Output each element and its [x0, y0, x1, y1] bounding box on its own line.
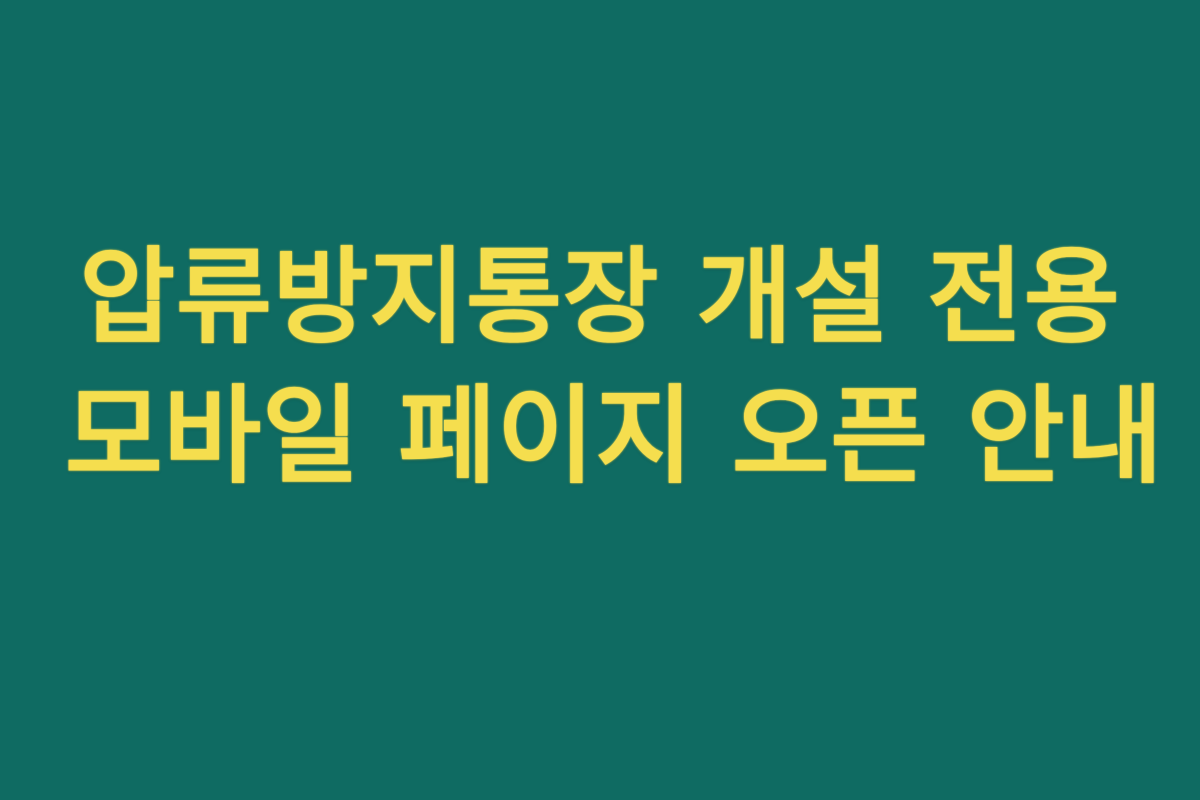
announcement-banner: 압류방지통장 개설 전용 모바일 페이지 오픈 안내: [0, 0, 1200, 800]
headline-line-1: 압류방지통장 개설 전용: [65, 227, 1135, 367]
headline-line-2: 모바일 페이지 오픈 안내: [65, 367, 1135, 507]
headline-block: 압류방지통장 개설 전용 모바일 페이지 오픈 안내: [0, 0, 1200, 800]
